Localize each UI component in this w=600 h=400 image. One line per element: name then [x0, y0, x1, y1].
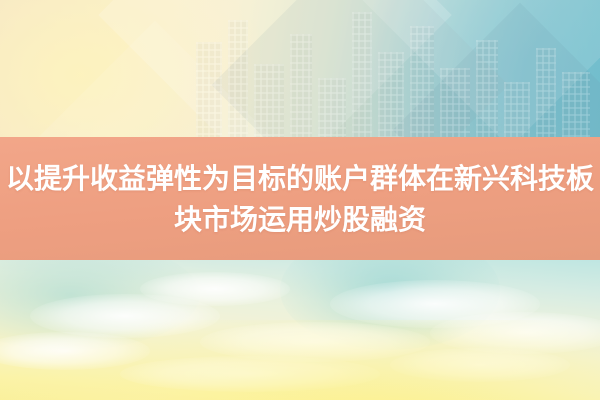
- yellow-wash-overlay: [0, 320, 600, 400]
- page-title: 以提升收益弹性为目标的账户群体在新兴科技板块市场运用炒股融资: [0, 158, 600, 240]
- building-silhouette-icon: [476, 40, 498, 138]
- skyline-silhouette-group: [0, 0, 600, 138]
- title-band: 以提升收益弹性为目标的账户群体在新兴科技板块市场运用炒股融资: [0, 137, 600, 260]
- banner-bottom-gradient: [0, 260, 600, 400]
- page-title-line-2: 市场运用炒股融资: [202, 204, 426, 235]
- building-silhouette-icon: [378, 52, 404, 138]
- building-silhouette-icon: [504, 82, 530, 138]
- building-silhouette-icon: [290, 34, 312, 138]
- building-silhouette-icon: [440, 68, 470, 138]
- building-silhouette-icon: [196, 42, 222, 138]
- cloud-wisp-icon: [140, 272, 290, 306]
- article-banner: 以提升收益弹性为目标的账户群体在新兴科技板块市场运用炒股融资: [0, 0, 600, 400]
- building-silhouette-icon: [318, 78, 346, 138]
- building-silhouette-icon: [228, 20, 248, 138]
- building-silhouette-icon: [536, 48, 556, 138]
- building-silhouette-icon: [254, 64, 284, 138]
- building-silhouette-icon: [410, 26, 434, 138]
- banner-top-gradient: [0, 0, 600, 138]
- building-silhouette-icon: [352, 12, 372, 138]
- building-silhouette-icon: [562, 72, 590, 138]
